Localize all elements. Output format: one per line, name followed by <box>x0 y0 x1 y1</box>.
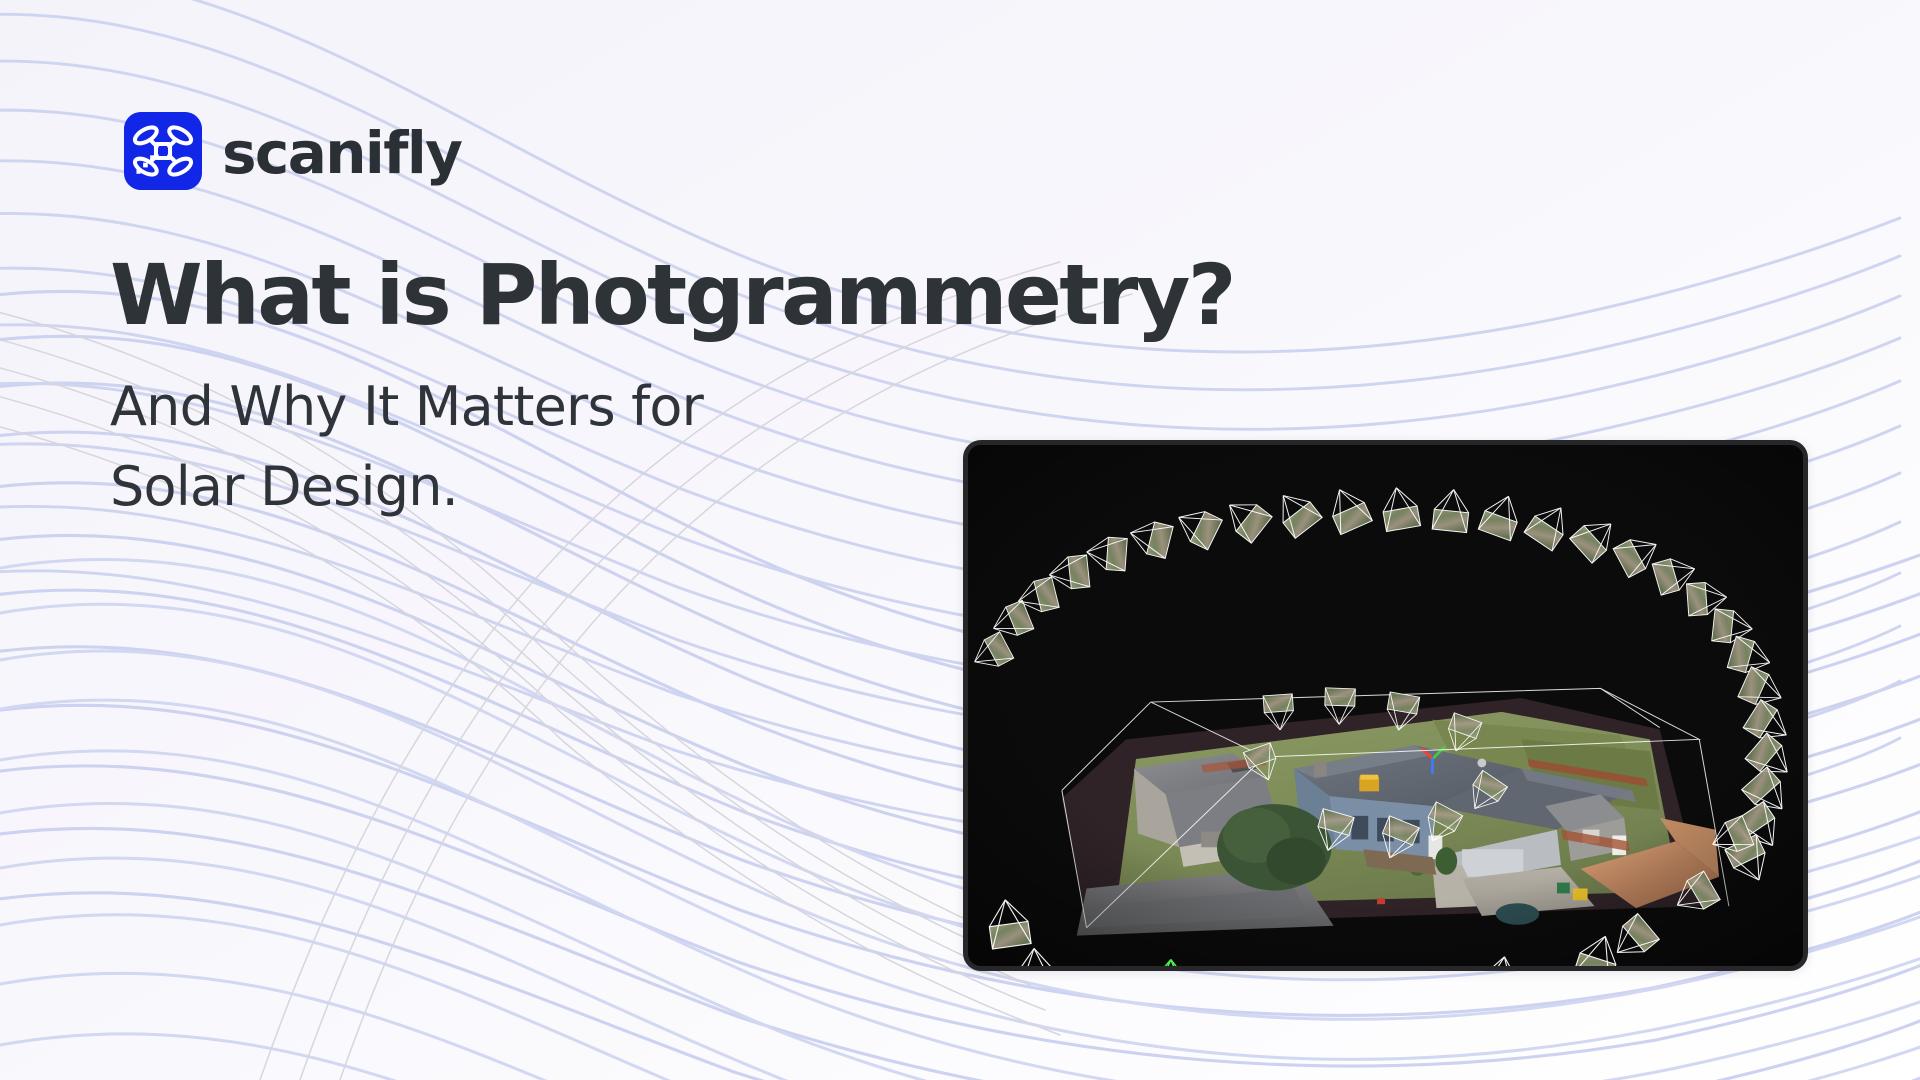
page-subtitle: And Why It Matters for Solar Design. <box>110 367 950 527</box>
drone-icon <box>124 112 202 190</box>
page-subtitle-line-1: And Why It Matters for <box>110 367 950 447</box>
page-subtitle-line-2: Solar Design. <box>110 447 950 527</box>
page-title: What is Photgrammetry? <box>110 252 950 339</box>
slide-canvas: scanifly What is Photgrammetry? And Why … <box>0 0 1920 1080</box>
photogrammetry-viewer-panel[interactable] <box>963 440 1808 971</box>
hero-text-block: What is Photgrammetry? And Why It Matter… <box>110 252 950 527</box>
photogrammetry-3d-scene[interactable] <box>968 445 1803 966</box>
brand-wordmark: scanifly <box>222 124 461 182</box>
brand-logo-lockup[interactable]: scanifly <box>124 112 461 190</box>
